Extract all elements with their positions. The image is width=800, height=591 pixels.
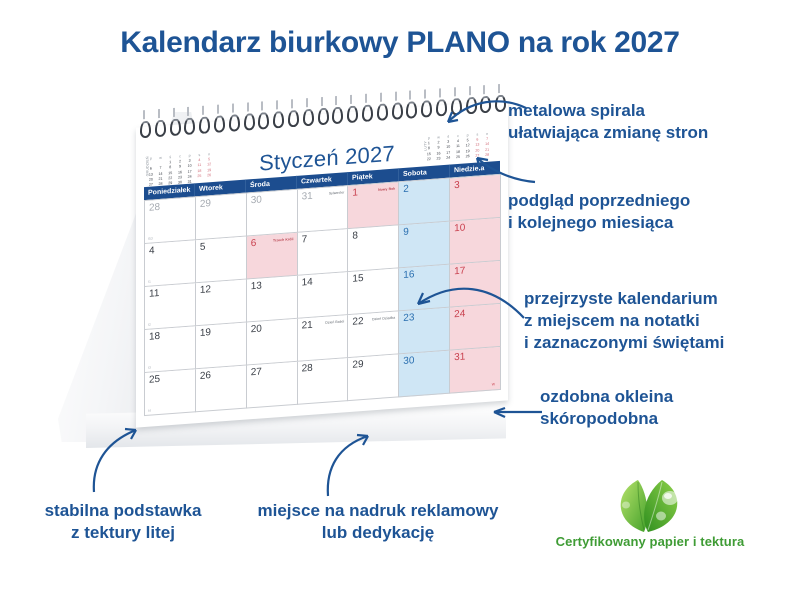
day-cell[interactable]: 28t53 [145, 197, 196, 244]
day-cell[interactable]: 30 [247, 190, 298, 237]
mini-day-cell: 22 [424, 157, 434, 163]
day-cell[interactable]: 20 [247, 319, 298, 366]
day-number: 21 [302, 320, 313, 332]
day-number: 22 [352, 316, 363, 328]
spiral-coil-tail [395, 92, 397, 101]
arrow-to-grid [400, 270, 530, 326]
week-number: t53 [148, 236, 153, 240]
spiral-coil-tail [483, 85, 485, 94]
day-number: 20 [251, 323, 262, 335]
mini-next-label: LUTY [424, 135, 429, 157]
spiral-coil [155, 120, 166, 138]
spiral-coil [362, 104, 373, 122]
day-number: 28 [149, 202, 160, 214]
day-cell[interactable]: 7 [298, 229, 349, 276]
spiral-coil [377, 103, 388, 121]
week-number: t3 [148, 366, 151, 370]
day-number: 4 [149, 245, 155, 256]
spiral-coil-tail [143, 110, 145, 119]
day-cell[interactable]: 8 [348, 225, 399, 272]
day-cell[interactable]: 5 [196, 237, 247, 284]
spiral-coil-tail [276, 100, 278, 109]
day-number: 15 [352, 273, 363, 285]
day-cell[interactable]: 26 [196, 366, 247, 413]
day-cell[interactable]: 13 [247, 276, 298, 323]
week-number: t2 [148, 323, 151, 327]
day-cell[interactable]: 14 [298, 272, 349, 319]
day-cell[interactable]: 21Dzień Babci [298, 315, 349, 362]
spiral-coil [406, 101, 417, 119]
annotation-okleina: ozdobna okleina skóropodobna [540, 386, 673, 430]
day-number: 9 [403, 227, 409, 238]
day-number: 8 [352, 230, 358, 241]
day-cell[interactable]: 31Sylwester [298, 186, 349, 233]
day-number: 30 [251, 194, 262, 206]
eco-certification-logo: Certyfikowany papier i tektura [508, 478, 792, 562]
day-cell[interactable]: 10 [450, 218, 501, 265]
spiral-coil-tail [306, 98, 308, 107]
day-cell[interactable]: 29 [348, 354, 399, 401]
day-number: 14 [302, 277, 313, 289]
day-note: Dzień Babci [325, 319, 344, 324]
spiral-coil [229, 114, 240, 132]
day-cell[interactable]: 9 [399, 222, 450, 269]
spiral-coil-tail [350, 95, 352, 104]
day-number: 28 [302, 363, 313, 375]
day-number: 11 [149, 288, 159, 300]
day-cell[interactable]: 30 [399, 351, 450, 398]
spiral-coil [288, 110, 299, 128]
day-cell[interactable]: 28 [298, 358, 349, 405]
day-cell[interactable]: 29 [196, 194, 247, 241]
spiral-coil-tail [187, 107, 189, 116]
eco-caption: Certyfikowany papier i tektura [508, 534, 792, 549]
mini-day-cell: 23 [434, 156, 444, 162]
spiral-coil-tail [335, 96, 337, 105]
day-number: 29 [352, 359, 363, 371]
day-number: 27 [251, 366, 262, 378]
mini-prev-label: GRUDZIEŃ [146, 155, 151, 177]
spiral-coil-tail [365, 94, 367, 103]
spiral-coil-tail [380, 93, 382, 102]
day-cell[interactable]: 22Dzień Dziadka [348, 311, 399, 358]
day-cell[interactable]: 25t4 [145, 369, 196, 416]
page-title: Kalendarz biurkowy PLANO na rok 2027 [0, 26, 800, 60]
day-cell[interactable]: 11t2 [145, 283, 196, 330]
day-number: 10 [454, 222, 465, 234]
spiral-coil-tail [469, 86, 471, 95]
day-number: 25 [149, 374, 160, 386]
day-cell[interactable]: 18t3 [145, 326, 196, 373]
day-cell[interactable]: 2 [399, 179, 450, 226]
day-number: 7 [302, 234, 308, 245]
day-number: 13 [251, 280, 262, 292]
week-number: t4 [148, 409, 151, 413]
annotation-spiral: metalowa spirala ułatwiająca zmianę stro… [508, 100, 708, 144]
annotation-calendar-grid: przejrzyste kalendarium z miejscem na no… [524, 288, 724, 353]
spiral-coil [170, 118, 181, 136]
day-number: 31 [302, 191, 313, 203]
day-number: 12 [200, 284, 211, 296]
arrow-to-print-area [312, 430, 382, 500]
day-number: 6 [251, 238, 257, 249]
day-number: 18 [149, 331, 160, 343]
day-cell[interactable]: 1Nowy Rok [348, 182, 399, 229]
day-mark: W [492, 382, 495, 386]
spiral-coil-tail [217, 105, 219, 114]
spiral-coil [392, 102, 403, 120]
green-leaf-icon [604, 478, 696, 534]
spiral-coil [258, 112, 269, 130]
spiral-coil [140, 121, 151, 139]
spiral-coil [199, 116, 210, 134]
day-number: 31 [454, 351, 465, 363]
day-number: 30 [403, 355, 414, 367]
day-number: 26 [200, 370, 211, 382]
annotation-print-area: miejsce na nadruk reklamowy lub dedykacj… [252, 500, 504, 544]
day-number: 1 [352, 187, 358, 198]
day-cell[interactable]: 15 [348, 268, 399, 315]
spiral-coil-tail [424, 89, 426, 98]
spiral-coil [421, 100, 432, 118]
day-note: Nowy Rok [378, 187, 395, 192]
day-note: Dzień Dziadka [372, 316, 395, 322]
spiral-coil-tail [232, 104, 234, 113]
day-cell[interactable]: 19 [196, 323, 247, 370]
spiral-coil [347, 105, 358, 123]
day-cell[interactable]: 4t1 [145, 240, 196, 287]
spiral-coil-tail [321, 97, 323, 106]
spiral-coil-tail [247, 102, 249, 111]
arrow-to-month-preview [455, 140, 540, 186]
spiral-coil [273, 111, 284, 129]
day-cell[interactable]: 27 [247, 362, 298, 409]
week-number: t1 [148, 280, 151, 284]
annotation-month-preview: podgląd poprzedniego i kolejnego miesiąc… [508, 190, 690, 234]
spiral-coil-tail [261, 101, 263, 110]
spiral-coil [318, 108, 329, 126]
spiral-coil-tail [498, 84, 500, 93]
day-cell[interactable]: 31W [450, 347, 501, 394]
day-cell[interactable]: 12 [196, 280, 247, 327]
spiral-coil [214, 115, 225, 133]
day-number: 29 [200, 198, 211, 210]
day-note: Sylwester [329, 190, 345, 195]
spiral-coil-tail [202, 106, 204, 115]
day-cell[interactable]: 6Trzech Króli [247, 233, 298, 280]
spiral-coil-tail [158, 109, 160, 118]
arrow-to-okleina [480, 398, 546, 428]
mini-day-cell: 24 [443, 155, 453, 161]
spiral-coil [303, 109, 314, 127]
day-number: 2 [403, 184, 409, 195]
day-number: 19 [200, 327, 211, 339]
spiral-coil [332, 107, 343, 125]
calendar-sheet: Styczeń 2027 GRUDZIEŃ pwścpsn12345678910… [136, 100, 508, 427]
annotation-base: stabilna podstawka z tektury litej [14, 500, 232, 544]
spiral-coil [184, 117, 195, 135]
day-number: 5 [200, 242, 206, 253]
arrow-to-base [88, 424, 148, 496]
day-note: Trzech Króli [273, 237, 294, 243]
spiral-coil-tail [173, 108, 175, 117]
spiral-coil [244, 113, 255, 131]
infographic-canvas: Kalendarz biurkowy PLANO na rok 2027 Sty… [0, 0, 800, 591]
spiral-coil-tail [291, 99, 293, 108]
spiral-coil-tail [409, 91, 411, 100]
